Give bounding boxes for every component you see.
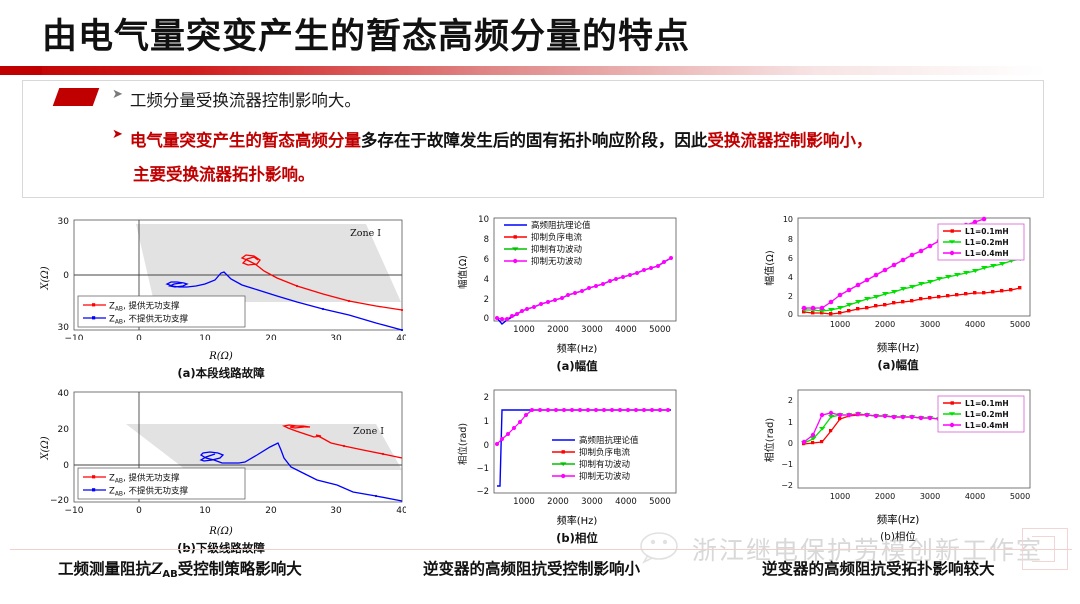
figure-mid-b-phase: 2 1 0 −1 −2 1000 2000 3000 4000 5000 相位(… bbox=[452, 382, 727, 546]
svg-text:30: 30 bbox=[58, 323, 70, 333]
svg-text:20: 20 bbox=[58, 425, 70, 435]
figure-mid-b-caption: (b)相位 bbox=[427, 530, 727, 546]
chart-a-svg: 30 0 30 −10 0 10 20 30 40 X(Ω) Zone I ZA… bbox=[36, 210, 406, 340]
svg-text:10: 10 bbox=[199, 506, 211, 516]
svg-text:0: 0 bbox=[136, 506, 142, 516]
svg-text:0: 0 bbox=[484, 441, 489, 451]
chart-mid-b-xlabel: 频率(Hz) bbox=[557, 516, 598, 527]
bullet-item-1: ➤ 工频分量受换流器控制影响大。 bbox=[112, 86, 361, 116]
svg-text:5000: 5000 bbox=[649, 497, 671, 507]
bottom-caption-mid: 逆变器的高频阻抗受控制影响小 bbox=[423, 557, 640, 579]
svg-text:10: 10 bbox=[478, 215, 489, 225]
svg-text:2000: 2000 bbox=[875, 320, 895, 329]
bullet-item-2: ➤ 电气量突变产生的暂态高频分量多存在于故障发生后的固有拓扑响应阶段，因此受换流… bbox=[112, 126, 1032, 156]
chart-a-xlabel: R(Ω) bbox=[209, 351, 233, 362]
bullet-item-1-text: 工频分量受换流器控制影响大。 bbox=[130, 86, 361, 116]
figure-b-impedance-trajectory: 40 20 0 −20 −10 0 10 20 30 40 X(Ω) Zone … bbox=[36, 382, 406, 556]
svg-text:20: 20 bbox=[265, 506, 277, 516]
svg-text:抑制负序电流: 抑制负序电流 bbox=[579, 447, 631, 458]
svg-text:−10: −10 bbox=[65, 334, 84, 340]
chart-b-xlabel: R(Ω) bbox=[209, 526, 233, 537]
svg-text:6: 6 bbox=[788, 254, 793, 263]
svg-text:40: 40 bbox=[396, 506, 406, 516]
figure-right-b-caption: (b)相位 bbox=[744, 529, 1052, 544]
chart-right-b-svg: 2 1 0 −1 −2 1000 2000 3000 4000 5000 相位(… bbox=[762, 382, 1052, 510]
svg-text:0: 0 bbox=[484, 314, 489, 324]
bullet-item-2-highlight-a: 电气量突变产生的暂态高频分量 bbox=[130, 131, 361, 150]
bullet-item-2-highlight-d: 主要受换流器拓扑影响。 bbox=[133, 165, 315, 184]
svg-text:Zone I: Zone I bbox=[350, 228, 381, 239]
svg-text:L1=0.1mH: L1=0.1mH bbox=[965, 399, 1009, 408]
bullet-item-2-line2: 主要受换流器拓扑影响。 bbox=[133, 160, 315, 190]
svg-text:8: 8 bbox=[484, 235, 489, 245]
svg-text:−10: −10 bbox=[65, 506, 84, 516]
bullet-item-2-highlight-c: 受换流器控制影响小， bbox=[707, 131, 872, 150]
svg-text:4: 4 bbox=[788, 273, 793, 282]
svg-text:−20: −20 bbox=[50, 496, 69, 506]
arrow-bullet-icon: ➤ bbox=[112, 86, 123, 104]
svg-text:X(Ω): X(Ω) bbox=[40, 436, 51, 460]
svg-text:抑制负序电流: 抑制负序电流 bbox=[531, 232, 583, 243]
svg-text:30: 30 bbox=[330, 334, 342, 340]
svg-text:30: 30 bbox=[330, 506, 342, 516]
bottom-caption-right: 逆变器的高频阻抗受拓扑影响较大 bbox=[762, 557, 995, 579]
svg-text:0: 0 bbox=[63, 271, 69, 281]
svg-text:−1: −1 bbox=[476, 464, 489, 474]
chart-b-svg: 40 20 0 −20 −10 0 10 20 30 40 X(Ω) Zone … bbox=[36, 382, 406, 517]
svg-text:Zone I: Zone I bbox=[353, 426, 384, 437]
svg-text:2000: 2000 bbox=[547, 325, 569, 335]
svg-text:抑制有功波动: 抑制有功波动 bbox=[579, 459, 631, 470]
svg-text:10: 10 bbox=[783, 215, 793, 224]
svg-text:3000: 3000 bbox=[581, 497, 603, 507]
bottom-divider bbox=[10, 549, 1072, 550]
svg-text:5000: 5000 bbox=[1010, 492, 1030, 501]
chart-right-b-xlabel: 频率(Hz) bbox=[877, 514, 920, 526]
svg-text:5000: 5000 bbox=[1010, 320, 1030, 329]
svg-text:0: 0 bbox=[136, 334, 142, 340]
svg-text:2: 2 bbox=[788, 292, 793, 301]
svg-text:1000: 1000 bbox=[830, 492, 850, 501]
bottom-caption-left: 工频测量阻抗ZAB受控制策略影响大 bbox=[58, 557, 302, 580]
svg-text:5000: 5000 bbox=[649, 325, 671, 335]
svg-text:相位(rad): 相位(rad) bbox=[457, 423, 469, 465]
title-divider-cap bbox=[0, 66, 42, 75]
figure-a-caption: (a)本段线路故障 bbox=[36, 365, 406, 381]
svg-text:1000: 1000 bbox=[513, 497, 535, 507]
svg-text:X(Ω): X(Ω) bbox=[40, 266, 51, 290]
svg-text:40: 40 bbox=[396, 334, 406, 340]
bottom-caption-left-symbol: Z bbox=[151, 559, 162, 578]
svg-text:3000: 3000 bbox=[920, 492, 940, 501]
svg-text:2: 2 bbox=[484, 393, 489, 403]
svg-text:L1=0.2mH: L1=0.2mH bbox=[965, 410, 1009, 419]
svg-text:抑制无功波动: 抑制无功波动 bbox=[531, 256, 583, 267]
svg-text:0: 0 bbox=[788, 310, 793, 319]
figure-a-impedance-trajectory: 30 0 30 −10 0 10 20 30 40 X(Ω) Zone I ZA… bbox=[36, 210, 406, 381]
svg-text:L1=0.2mH: L1=0.2mH bbox=[965, 238, 1009, 247]
svg-text:−2: −2 bbox=[781, 481, 793, 490]
bottom-caption-left-pre: 工频测量阻抗 bbox=[58, 560, 151, 578]
svg-text:4000: 4000 bbox=[615, 497, 637, 507]
svg-text:3000: 3000 bbox=[920, 320, 940, 329]
title-divider-gradient bbox=[0, 66, 1045, 75]
chart-mid-a-svg: 10 8 6 4 2 0 1000 2000 3000 4000 5000 幅值… bbox=[452, 210, 727, 338]
svg-text:1: 1 bbox=[484, 417, 489, 427]
figure-mid-a-caption: (a)幅值 bbox=[427, 358, 727, 374]
svg-text:1000: 1000 bbox=[830, 320, 850, 329]
svg-text:8: 8 bbox=[788, 235, 793, 244]
bullet-item-2-text-b: 多存在于故障发生后的固有拓扑响应阶段，因此 bbox=[361, 131, 708, 150]
svg-text:4: 4 bbox=[484, 275, 489, 285]
arrow-bullet-icon: ➤ bbox=[112, 126, 123, 144]
svg-text:2: 2 bbox=[484, 295, 489, 305]
svg-text:40: 40 bbox=[58, 389, 70, 399]
svg-text:幅值(Ω): 幅值(Ω) bbox=[763, 250, 776, 286]
svg-text:4000: 4000 bbox=[615, 325, 637, 335]
chart-right-a-xlabel: 频率(Hz) bbox=[877, 342, 920, 354]
svg-text:2000: 2000 bbox=[547, 497, 569, 507]
svg-text:3000: 3000 bbox=[581, 325, 603, 335]
figure-right-a-magnitude: 10 8 6 4 2 0 1000 2000 3000 4000 5000 幅值… bbox=[762, 210, 1052, 373]
svg-text:4000: 4000 bbox=[965, 492, 985, 501]
svg-text:−1: −1 bbox=[781, 460, 793, 469]
bottom-caption-left-post: 受控制策略影响大 bbox=[178, 560, 302, 578]
page-title: 由电气量突变产生的暂态高频分量的特点 bbox=[42, 8, 690, 59]
svg-text:6: 6 bbox=[484, 255, 489, 265]
chart-mid-b-svg: 2 1 0 −1 −2 1000 2000 3000 4000 5000 相位(… bbox=[452, 382, 727, 510]
figure-right-a-caption: (a)幅值 bbox=[744, 357, 1052, 373]
svg-text:2000: 2000 bbox=[875, 492, 895, 501]
figure-mid-a-magnitude: 10 8 6 4 2 0 1000 2000 3000 4000 5000 幅值… bbox=[452, 210, 727, 374]
svg-text:20: 20 bbox=[265, 334, 277, 340]
svg-text:抑制有功波动: 抑制有功波动 bbox=[531, 244, 583, 255]
svg-text:0: 0 bbox=[63, 461, 69, 471]
svg-text:高频阻抗理论值: 高频阻抗理论值 bbox=[531, 220, 591, 231]
svg-text:30: 30 bbox=[58, 217, 70, 227]
svg-text:L1=0.1mH: L1=0.1mH bbox=[965, 227, 1009, 236]
svg-text:0: 0 bbox=[788, 439, 793, 448]
figure-b-caption: (b)下级线路故障 bbox=[36, 540, 406, 556]
svg-text:L1=0.4mH: L1=0.4mH bbox=[965, 421, 1009, 430]
chart-mid-a-xlabel: 频率(Hz) bbox=[557, 344, 598, 355]
bottom-caption-left-subscript: AB bbox=[162, 569, 177, 580]
red-parallelogram-marker bbox=[53, 88, 100, 106]
svg-text:4000: 4000 bbox=[965, 320, 985, 329]
svg-text:幅值(Ω): 幅值(Ω) bbox=[457, 255, 469, 289]
svg-text:−2: −2 bbox=[476, 487, 489, 497]
svg-text:抑制无功波动: 抑制无功波动 bbox=[579, 471, 631, 482]
chart-right-a-svg: 10 8 6 4 2 0 1000 2000 3000 4000 5000 幅值… bbox=[762, 210, 1052, 338]
svg-text:10: 10 bbox=[199, 334, 211, 340]
svg-text:L1=0.4mH: L1=0.4mH bbox=[965, 249, 1009, 258]
figure-right-b-phase: 2 1 0 −1 −2 1000 2000 3000 4000 5000 相位(… bbox=[762, 382, 1052, 544]
svg-text:高频阻抗理论值: 高频阻抗理论值 bbox=[579, 435, 639, 446]
svg-text:2: 2 bbox=[788, 396, 793, 405]
svg-text:1: 1 bbox=[788, 418, 793, 427]
svg-text:1000: 1000 bbox=[513, 325, 535, 335]
svg-text:相位(rad): 相位(rad) bbox=[763, 418, 776, 462]
